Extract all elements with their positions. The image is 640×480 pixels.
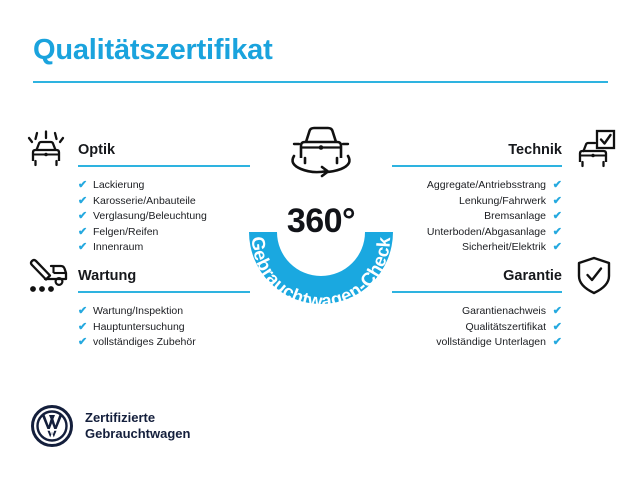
wartung-check-list: ✔Wartung/Inspektion ✔Hauptuntersuchung ✔… [20, 304, 250, 351]
technik-check-list: Aggregate/Antriebsstrang✔ Lenkung/Fahrwe… [392, 178, 620, 256]
list-item: ✔Lackierung [20, 178, 250, 194]
garantie-check-list: Garantienachweis✔ Qualitätszertifikat✔ v… [392, 304, 620, 351]
list-item-label: Hauptuntersuchung [93, 320, 185, 336]
badge-degrees-label: 360° [223, 202, 419, 241]
check-icon: ✔ [550, 178, 562, 194]
list-item-label: Aggregate/Antriebsstrang [427, 178, 546, 194]
list-item: vollständige Unterlagen✔ [392, 335, 620, 351]
badge-360-gebrauchtwagen-check: Gebrauchtwagen-Check 360° [223, 118, 419, 318]
list-item-label: Lackierung [93, 178, 144, 194]
list-item: ✔Karosserie/Anbauteile [20, 194, 250, 210]
list-item: ✔Verglasung/Beleuchtung [20, 209, 250, 225]
section-technik: Technik Aggregate/Antriebsstrang✔ Lenkun… [392, 128, 620, 256]
list-item: ✔Hauptuntersuchung [20, 320, 250, 336]
section-optik: Optik ✔Lackierung ✔Karosserie/Anbauteile… [20, 128, 250, 256]
list-item: Aggregate/Antriebsstrang✔ [392, 178, 620, 194]
footer-brand: Zertifizierte Gebrauchtwagen [31, 405, 190, 447]
check-icon: ✔ [78, 335, 90, 351]
list-item-label: Felgen/Reifen [93, 225, 158, 241]
shield-check-icon [568, 254, 620, 298]
check-icon: ✔ [550, 209, 562, 225]
list-item-label: vollständige Unterlagen [436, 335, 546, 351]
list-item-label: Unterboden/Abgasanlage [427, 225, 546, 241]
list-item: Lenkung/Fahrwerk✔ [392, 194, 620, 210]
list-item-label: Lenkung/Fahrwerk [459, 194, 546, 210]
check-icon: ✔ [78, 320, 90, 336]
footer-line-2: Gebrauchtwagen [85, 426, 190, 442]
car-wrench-service-icon [20, 254, 72, 298]
section-garantie: Garantie Garantienachweis✔ Qualitätszert… [392, 254, 620, 351]
check-icon: ✔ [550, 194, 562, 210]
volkswagen-logo [31, 405, 73, 447]
section-technik-header: Technik [392, 128, 620, 174]
list-item-label: Karosserie/Anbauteile [93, 194, 196, 210]
section-wartung-title: Wartung [78, 268, 136, 284]
check-icon: ✔ [78, 225, 90, 241]
check-icon: ✔ [78, 209, 90, 225]
list-item: ✔Felgen/Reifen [20, 225, 250, 241]
list-item: ✔vollständiges Zubehör [20, 335, 250, 351]
page-title: Qualitätszertifikat [33, 34, 273, 67]
section-wartung-header: Wartung [20, 254, 250, 300]
check-icon: ✔ [78, 304, 90, 320]
list-item-label: Bremsanlage [484, 209, 546, 225]
list-item: ✔Wartung/Inspektion [20, 304, 250, 320]
section-optik-header: Optik [20, 128, 250, 174]
list-item-label: Verglasung/Beleuchtung [93, 209, 207, 225]
optik-check-list: ✔Lackierung ✔Karosserie/Anbauteile ✔Verg… [20, 178, 250, 256]
check-icon: ✔ [550, 225, 562, 241]
list-item-label: Qualitätszertifikat [465, 320, 546, 336]
footer-brand-text: Zertifizierte Gebrauchtwagen [85, 410, 190, 442]
header-divider [33, 81, 608, 83]
check-icon: ✔ [550, 320, 562, 336]
section-wartung: Wartung ✔Wartung/Inspektion ✔Hauptunters… [20, 254, 250, 351]
car-front-shine-icon [20, 128, 72, 172]
list-item-label: Wartung/Inspektion [93, 304, 183, 320]
check-icon: ✔ [78, 178, 90, 194]
list-item: Bremsanlage✔ [392, 209, 620, 225]
section-garantie-title: Garantie [503, 268, 562, 284]
check-icon: ✔ [78, 194, 90, 210]
list-item-label: vollständiges Zubehör [93, 335, 196, 351]
section-optik-title: Optik [78, 142, 115, 158]
list-item: Unterboden/Abgasanlage✔ [392, 225, 620, 241]
list-item-label: Garantienachweis [462, 304, 546, 320]
check-icon: ✔ [550, 335, 562, 351]
quality-certificate-page: Qualitätszertifikat [0, 0, 640, 480]
section-technik-title: Technik [508, 142, 562, 158]
section-garantie-header: Garantie [392, 254, 620, 300]
car-front-checkbox-icon [568, 128, 620, 172]
list-item: Garantienachweis✔ [392, 304, 620, 320]
check-icon: ✔ [550, 304, 562, 320]
list-item: Qualitätszertifikat✔ [392, 320, 620, 336]
footer-line-1: Zertifizierte [85, 410, 190, 426]
